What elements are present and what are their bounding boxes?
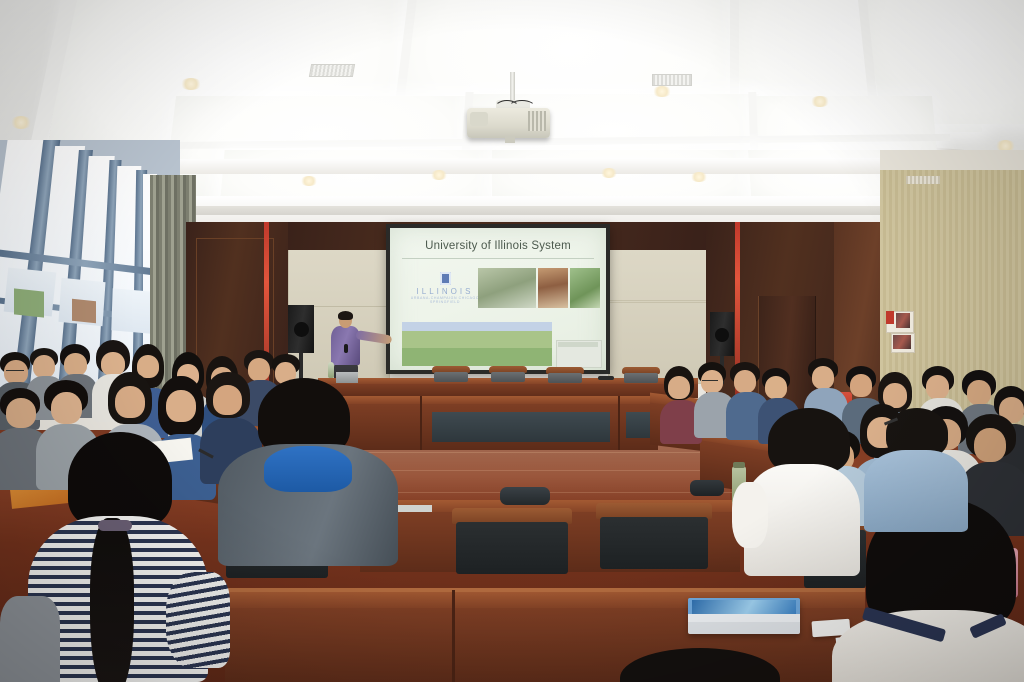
notebook-on-table[interactable] — [398, 505, 432, 512]
water-bottle[interactable] — [328, 362, 334, 378]
recessed-downlight — [430, 170, 448, 180]
projector-vent — [528, 111, 546, 131]
campus-greenery-photo — [570, 268, 600, 308]
arm — [166, 572, 230, 668]
ponytail — [90, 518, 134, 682]
thermos-cap — [733, 462, 745, 468]
photo-sky-band — [402, 322, 552, 331]
table-edge-highlight — [225, 588, 865, 592]
recessed-downlight — [690, 172, 708, 182]
microphone-base — [598, 376, 614, 380]
recessed-downlight — [180, 78, 202, 90]
laptop[interactable] — [336, 372, 358, 383]
speaker-cone — [715, 328, 729, 342]
recessed-downlight — [600, 168, 618, 178]
recessed-downlight — [10, 116, 32, 129]
acoustic-wall-panel — [608, 248, 710, 384]
black-bag[interactable] — [500, 487, 550, 505]
handheld-microphone — [344, 344, 348, 353]
screenshot-root: University of Illinois System ILLINOIS U… — [0, 0, 1024, 682]
recessed-downlight — [810, 96, 830, 107]
ceiling-air-vent — [309, 64, 355, 77]
ceiling-air-vent — [652, 74, 692, 86]
slide-title: University of Illinois System — [398, 240, 598, 252]
hair — [68, 432, 172, 528]
poster-image — [893, 335, 911, 349]
table-panel-inset — [432, 412, 610, 442]
right-wall-vent — [906, 176, 940, 184]
speaker-cone — [294, 322, 309, 337]
poster-red-band — [886, 311, 894, 324]
black-bag[interactable] — [690, 480, 724, 496]
illinois-wordmark: ILLINOIS — [410, 287, 480, 296]
projector-lens — [470, 112, 488, 126]
campus-building-photo — [478, 268, 536, 308]
projector-foot — [505, 136, 515, 143]
torso — [864, 450, 968, 532]
illinois-campus-subtitle: URBANA-CHAMPAIGN CHICAGO SPRINGFIELD — [410, 296, 480, 304]
hair-tie — [98, 520, 132, 531]
poster-image — [896, 313, 910, 328]
illinois-block-i-icon — [440, 272, 451, 285]
table-joint-seam — [420, 396, 422, 450]
thumbnail-title-bar — [558, 342, 598, 347]
arm — [732, 482, 768, 548]
presenter-hair — [338, 311, 353, 320]
campus-tower-photo — [538, 268, 568, 308]
table-joint-seam — [618, 396, 620, 450]
hoodie-lining — [264, 446, 352, 492]
illinois-logo-block: ILLINOIS URBANA-CHAMPAIGN CHICAGO SPRING… — [410, 272, 480, 306]
book-cover-art — [692, 600, 796, 614]
recessed-downlight — [652, 86, 672, 97]
recessed-downlight — [300, 176, 318, 186]
acoustic-wall-panel — [608, 300, 710, 303]
slide-title-rule — [402, 258, 594, 259]
table-joint-seam — [452, 590, 455, 682]
